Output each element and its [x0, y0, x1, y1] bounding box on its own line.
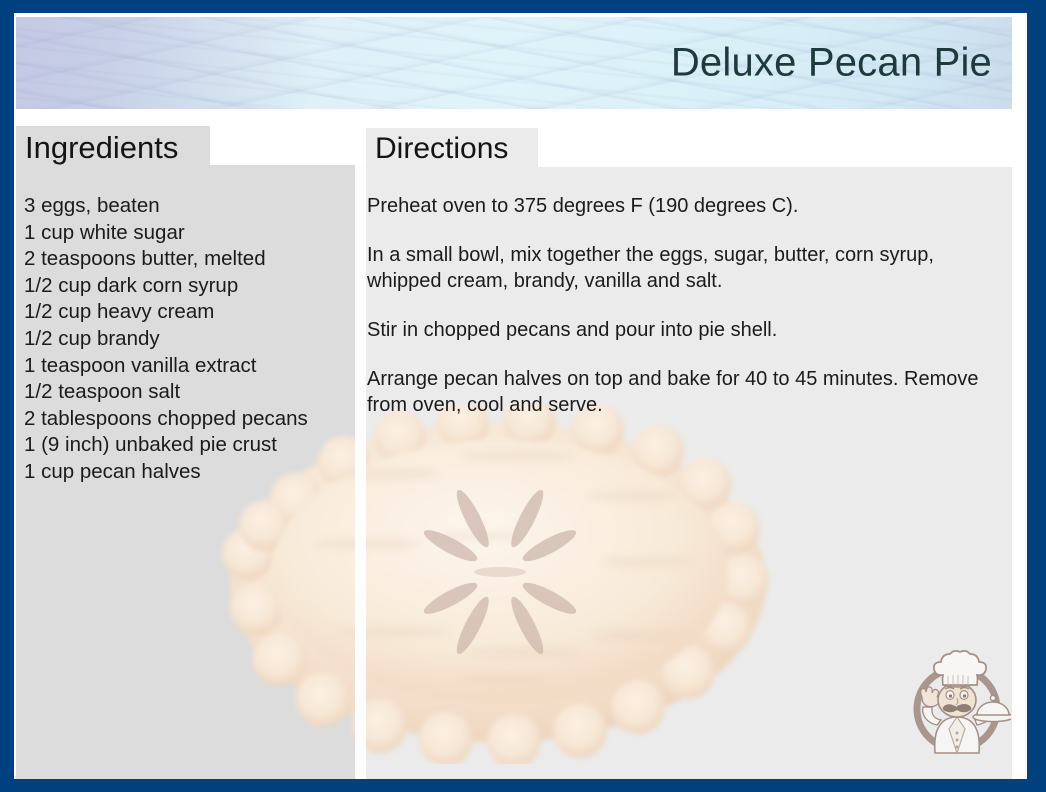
slide-border-right [1027, 0, 1046, 792]
panel-divider [355, 165, 366, 779]
direction-step: In a small bowl, mix together the eggs, … [367, 242, 993, 294]
chef-logo [903, 645, 1011, 757]
section-header-directions: Directions [366, 128, 538, 170]
list-item: 3 eggs, beaten [24, 193, 354, 220]
slide-border-bottom [0, 779, 1046, 792]
directions-heading-label: Directions [375, 134, 508, 164]
list-item: 1/2 cup brandy [24, 326, 354, 353]
header-banner: Deluxe Pecan Pie [16, 17, 1012, 109]
list-item: 1 (9 inch) unbaked pie crust [24, 432, 354, 459]
list-item: 1 cup white sugar [24, 220, 354, 247]
ingredients-heading-label: Ingredients [25, 132, 178, 163]
direction-step: Preheat oven to 375 degrees F (190 degre… [367, 193, 993, 219]
directions-steps: Preheat oven to 375 degrees F (190 degre… [367, 193, 993, 418]
ingredients-list: 3 eggs, beaten 1 cup white sugar 2 teasp… [24, 193, 354, 486]
section-header-ingredients: Ingredients [16, 126, 210, 168]
slide-border-left [0, 0, 14, 792]
list-item: 1 cup pecan halves [24, 459, 354, 486]
list-item: 2 tablespoons chopped pecans [24, 406, 354, 433]
page-title: Deluxe Pecan Pie [671, 41, 992, 86]
list-item: 1/2 cup heavy cream [24, 299, 354, 326]
recipe-slide: Deluxe Pecan Pie [0, 0, 1046, 792]
list-item: 1/2 teaspoon salt [24, 379, 354, 406]
list-item: 1/2 cup dark corn syrup [24, 273, 354, 300]
direction-step: Stir in chopped pecans and pour into pie… [367, 317, 993, 343]
direction-step: Arrange pecan halves on top and bake for… [367, 366, 993, 418]
list-item: 1 teaspoon vanilla extract [24, 353, 354, 380]
slide-border-top [0, 0, 1046, 13]
list-item: 2 teaspoons butter, melted [24, 246, 354, 273]
